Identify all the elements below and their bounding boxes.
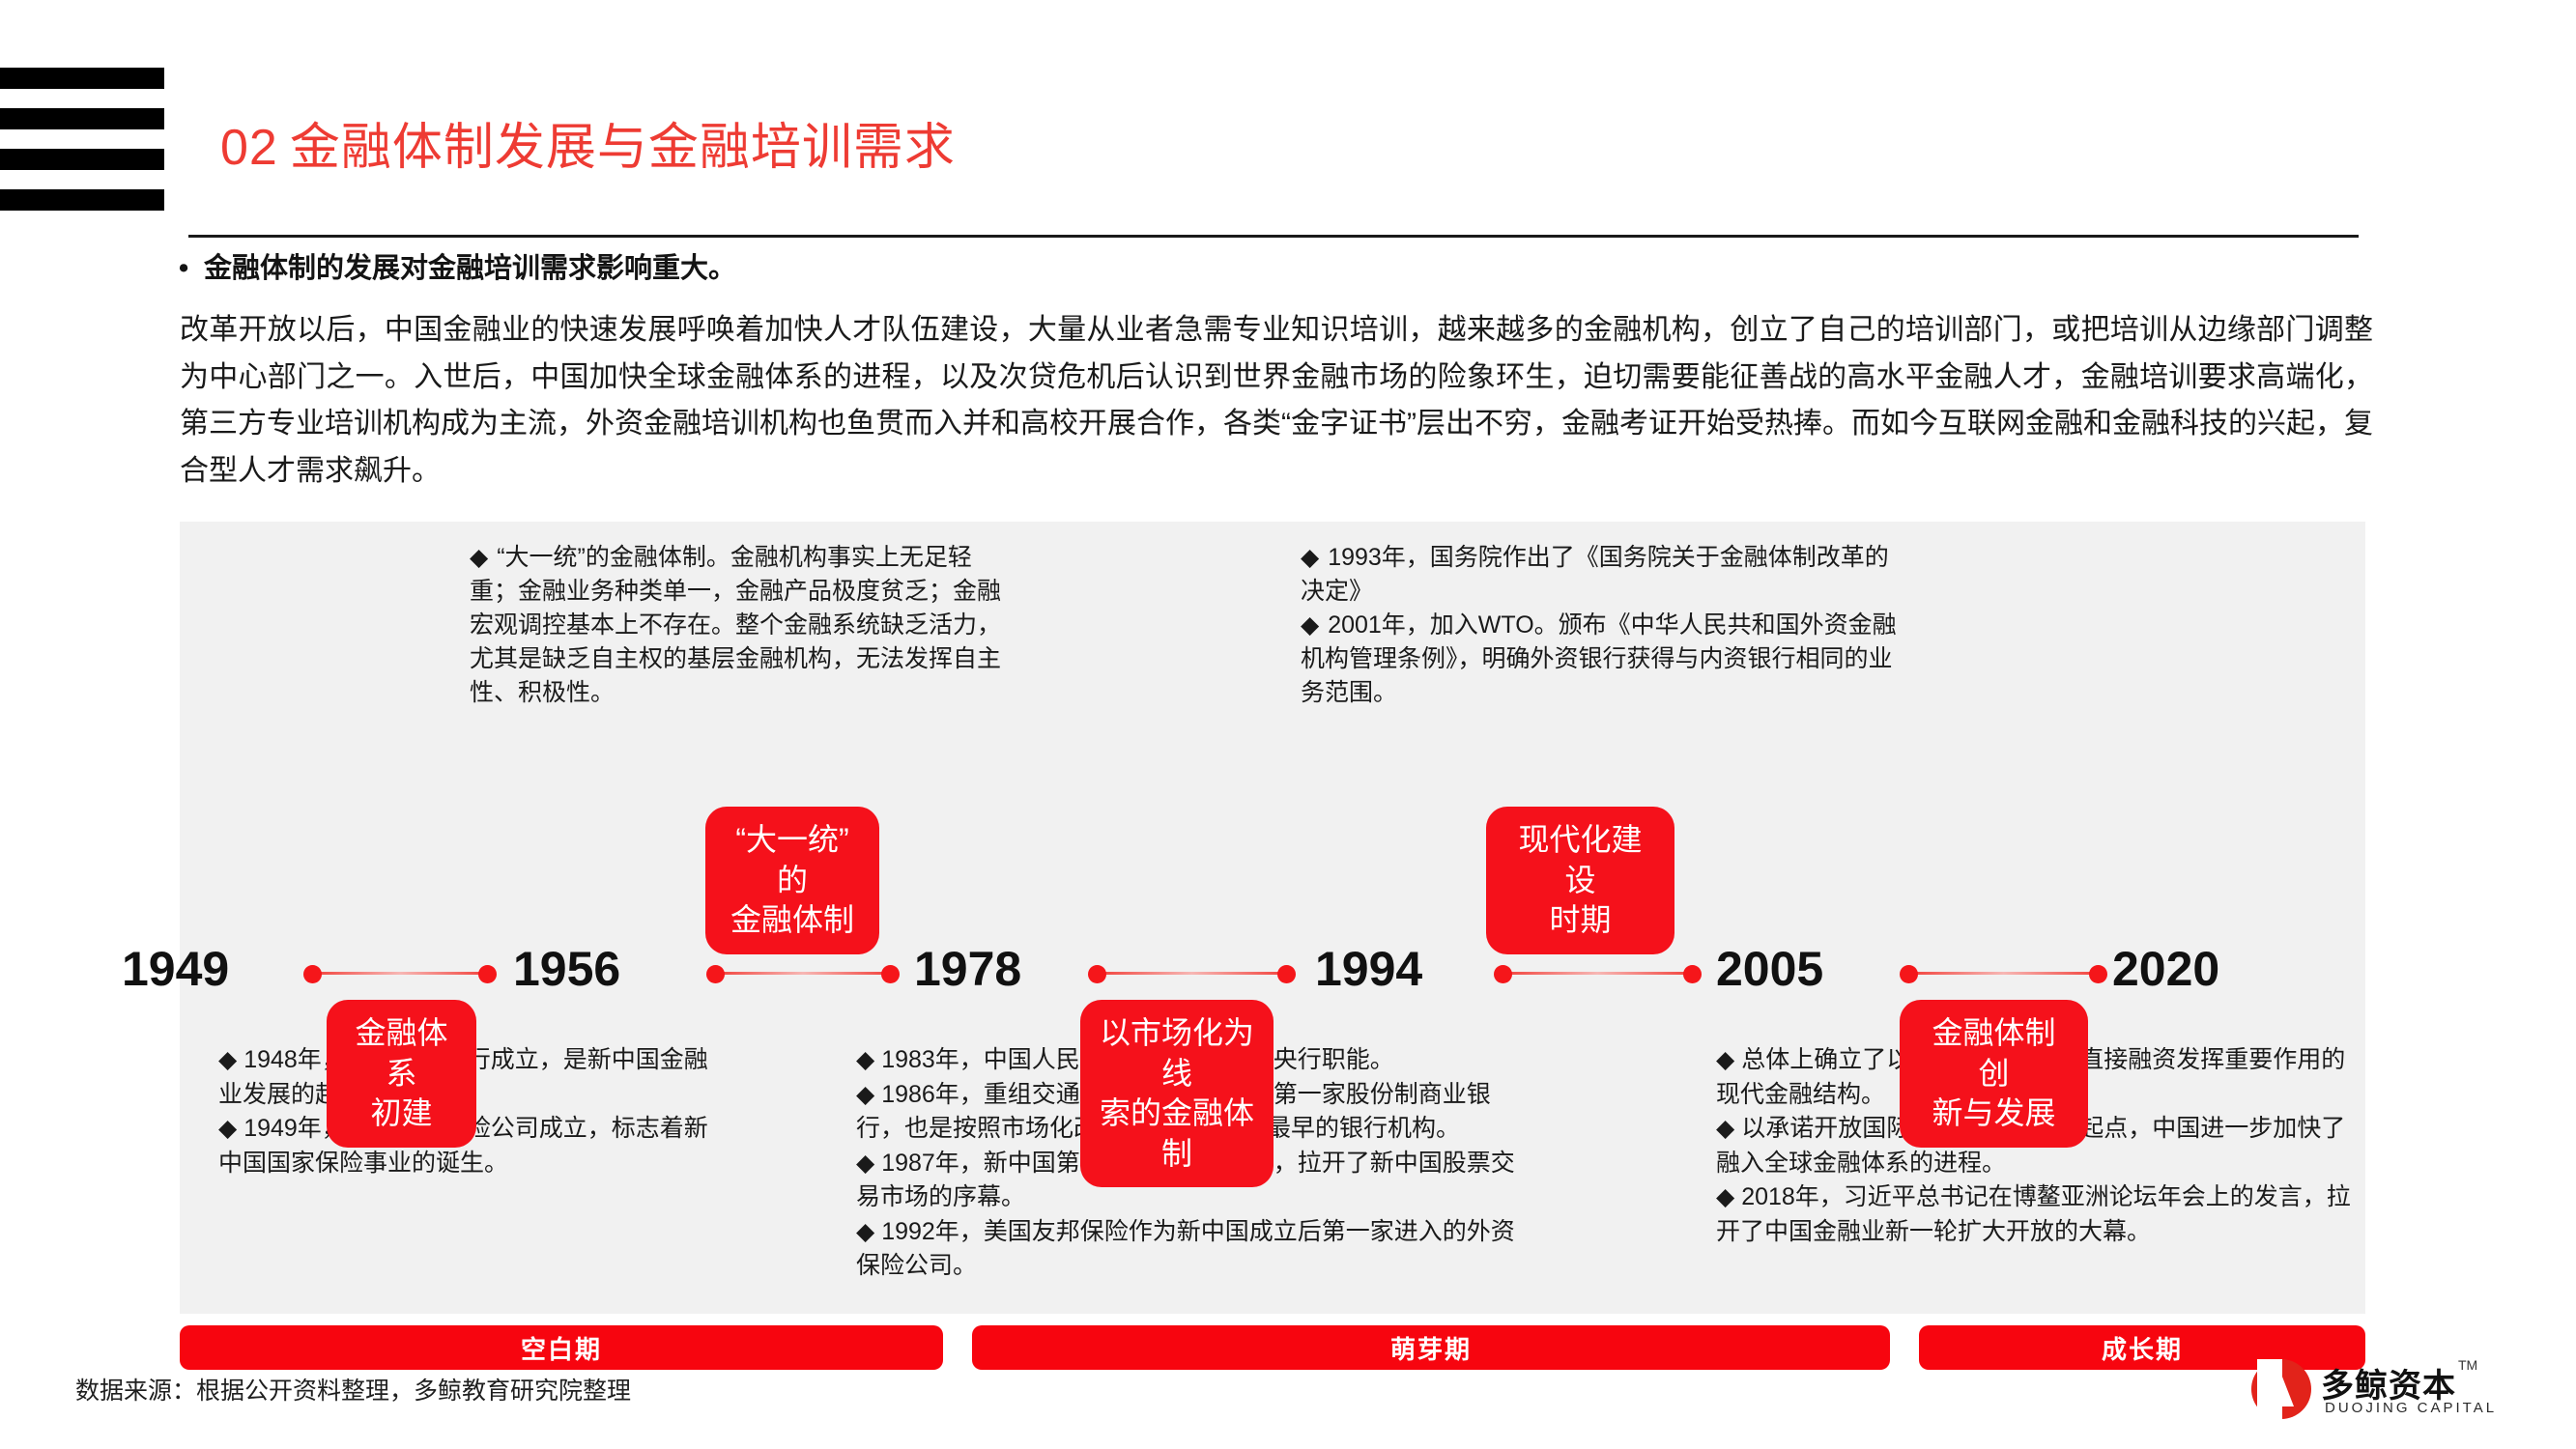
timeline-year-2005: 2005	[1716, 941, 1823, 997]
timeline-knob-left	[303, 965, 322, 983]
timeline-badge-4[interactable]: 现代化建设时期	[1486, 807, 1674, 954]
intro-paragraph: 改革开放以后，中国金融业的快速发展呼唤着加快人才队伍建设，大量从业者急需专业知识…	[180, 307, 2373, 495]
bullet-marker-icon: •	[179, 249, 204, 289]
logo-subtitle: DUOJING CAPITAL	[2325, 1400, 2497, 1416]
timeline-year-1994: 1994	[1315, 941, 1422, 997]
note-top-left: ◆ “大一统”的金融体制。金融机构事实上无足轻重；金融业务种类单一，金融产品极度…	[470, 541, 1011, 710]
note-top-right-text-2: 2001年，加入WTO。颁布《中华人民共和国外资金融机构管理条例》，明确外资银行…	[1301, 611, 1897, 706]
timeline-knob-right	[2089, 965, 2107, 983]
timeline-segment-5	[1900, 965, 2107, 982]
timeline-panel: ◆ “大一统”的金融体制。金融机构事实上无足轻重；金融业务种类单一，金融产品极度…	[180, 522, 2365, 1314]
diamond-bullet-icon: ◆	[1301, 611, 1321, 639]
timeline-knob-right	[881, 965, 900, 983]
page-title: 02金融体制发展与金融培训需求	[220, 121, 956, 176]
timeline-knob-left	[1494, 965, 1512, 983]
decorative-bar	[0, 68, 164, 89]
note-top-right-text-1: 1993年，国务院作出了《国务院关于金融体制改革的决定》	[1301, 544, 1889, 605]
list-item-text: 1992年，美国友邦保险作为新中国成立后第一家进入的外资保险公司。	[856, 1218, 1515, 1280]
timeline-year-1956: 1956	[513, 941, 620, 997]
diamond-bullet-icon: ◆	[1716, 1046, 1734, 1073]
decorative-bar	[0, 149, 164, 170]
note-top-right-line-2: ◆ 2001年，加入WTO。颁布《中华人民共和国外资金融机构管理条例》，明确外资…	[1301, 609, 1900, 710]
diamond-bullet-icon: ◆	[1301, 544, 1321, 571]
diamond-bullet-icon: ◆	[856, 1218, 874, 1245]
list-item: ◆ 1992年，美国友邦保险作为新中国成立后第一家进入的外资保险公司。	[856, 1215, 1532, 1284]
diamond-bullet-icon: ◆	[856, 1081, 874, 1108]
list-item: ◆ 2018年，习近平总书记在博鳌亚洲论坛年会上的发言，拉开了中国金融业新一轮扩…	[1716, 1180, 2354, 1249]
timeline-knob-left	[1900, 965, 1918, 983]
timeline-knob-right	[478, 965, 497, 983]
diamond-bullet-icon: ◆	[856, 1150, 874, 1177]
decorative-bar	[0, 189, 164, 211]
timeline-badge-1[interactable]: 金融体系初建	[327, 1000, 476, 1148]
intro-bullet: •金融体制的发展对金融培训需求影响重大。	[179, 249, 2362, 289]
timeline-badge-2[interactable]: “大一统”的金融体制	[705, 807, 879, 954]
timeline-knob-right	[1683, 965, 1702, 983]
page-title-text: 金融体制发展与金融培训需求	[290, 120, 956, 176]
note-top-left-text: “大一统”的金融体制。金融机构事实上无足轻重；金融业务种类单一，金融产品极度贫乏…	[470, 544, 1001, 706]
data-source-note: 数据来源：根据公开资料整理，多鲸教育研究院整理	[75, 1372, 631, 1406]
title-divider	[188, 235, 2359, 238]
timeline-knob-left	[1088, 965, 1106, 983]
timeline-line	[716, 972, 890, 975]
diamond-bullet-icon: ◆	[1716, 1183, 1734, 1210]
timeline-year-1949: 1949	[122, 941, 229, 997]
company-logo: 多鲸资本 TM DUOJING CAPITAL	[2251, 1357, 2493, 1421]
logo-whale-icon	[2251, 1359, 2311, 1419]
timeline-badge-3[interactable]: 以市场化为线索的金融体制	[1080, 1000, 1274, 1187]
decorative-bar	[0, 108, 164, 129]
note-top-right-line-1: ◆ 1993年，国务院作出了《国务院关于金融体制改革的决定》	[1301, 541, 1900, 609]
timeline-knob-left	[706, 965, 725, 983]
timeline-year-1978: 1978	[914, 941, 1021, 997]
timeline-badge-5[interactable]: 金融体制创新与发展	[1900, 1000, 2088, 1148]
timeline-line	[1503, 972, 1692, 975]
timeline-line	[313, 972, 487, 975]
phase-bar-blank[interactable]: 空白期	[180, 1325, 943, 1370]
diamond-bullet-icon: ◆	[856, 1046, 874, 1073]
timeline-line	[1098, 972, 1286, 975]
trademark-symbol: TM	[2458, 1357, 2477, 1373]
page-title-number: 02	[220, 120, 278, 176]
timeline-line	[1909, 972, 2098, 975]
timeline-segment-2	[706, 965, 900, 982]
timeline-knob-right	[1277, 965, 1296, 983]
slide-canvas: 02金融体制发展与金融培训需求 •金融体制的发展对金融培训需求影响重大。 改革开…	[0, 0, 2576, 1449]
diamond-bullet-icon: ◆	[1716, 1115, 1734, 1142]
diamond-bullet-icon: ◆	[218, 1115, 237, 1142]
timeline-segment-1	[303, 965, 497, 982]
timeline-segment-4	[1494, 965, 1702, 982]
note-top-right: ◆ 1993年，国务院作出了《国务院关于金融体制改革的决定》 ◆ 2001年，加…	[1301, 541, 1900, 710]
intro-bullet-text: 金融体制的发展对金融培训需求影响重大。	[204, 253, 736, 284]
phase-bar-sprout[interactable]: 萌芽期	[972, 1325, 1890, 1370]
timeline-year-2020: 2020	[2112, 941, 2219, 997]
diamond-bullet-icon: ◆	[470, 544, 490, 571]
timeline-segment-3	[1088, 965, 1296, 982]
diamond-bullet-icon: ◆	[218, 1046, 237, 1073]
list-item-text: 2018年，习近平总书记在博鳌亚洲论坛年会上的发言，拉开了中国金融业新一轮扩大开…	[1716, 1183, 2351, 1245]
